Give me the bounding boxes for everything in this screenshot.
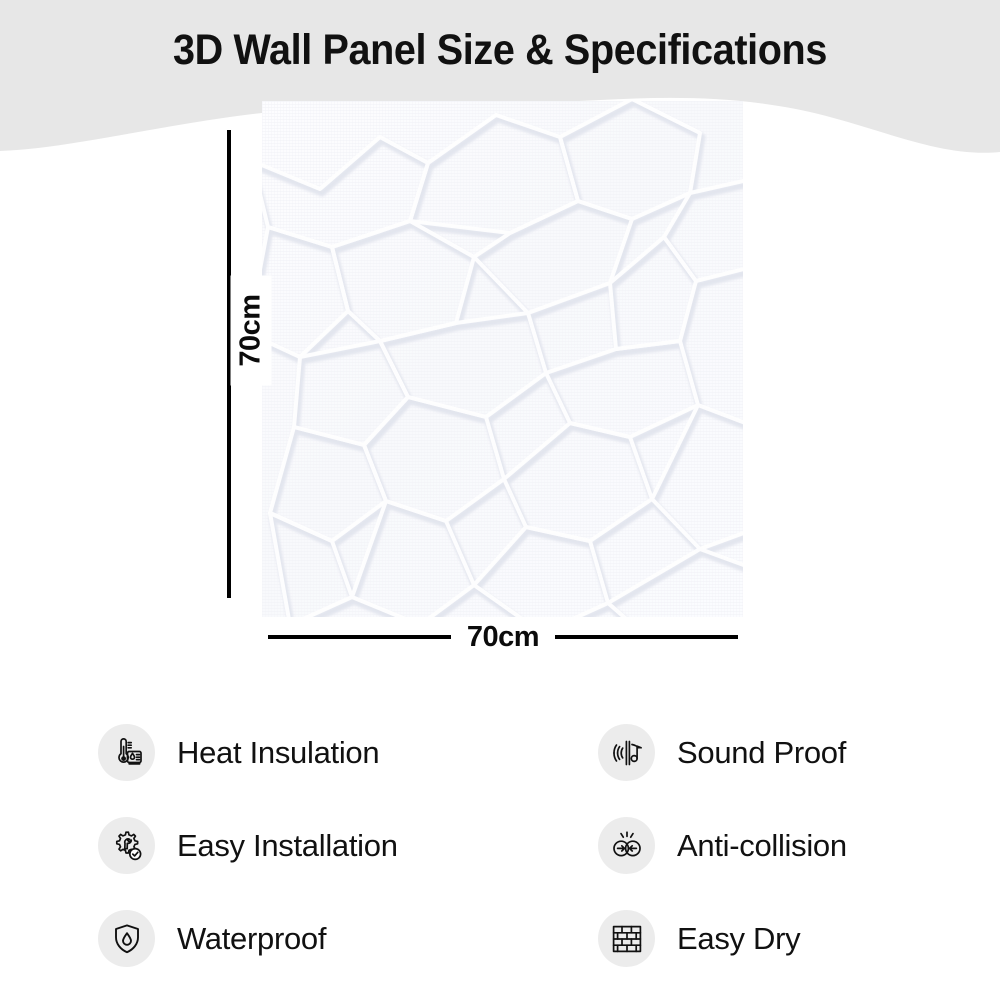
page-title: 3D Wall Panel Size & Specifications — [40, 26, 960, 75]
panel-texture-graphic — [262, 101, 743, 617]
feature-item-heat-insulation: Heat Insulation — [98, 724, 598, 781]
width-dimension-line-right — [555, 635, 738, 639]
feature-label-waterproof: Waterproof — [177, 921, 326, 957]
sound-wave-block-icon — [598, 724, 655, 781]
product-panel-image — [262, 101, 743, 617]
feature-label-anti-collision: Anti-collision — [677, 828, 847, 864]
width-dimension-line: 70cm — [268, 620, 738, 654]
width-dimension-label: 70cm — [451, 623, 555, 652]
collision-arrows-icon — [598, 817, 655, 874]
feature-label-easy-dry: Easy Dry — [677, 921, 800, 957]
feature-item-easy-dry: Easy Dry — [598, 910, 928, 967]
feature-label-easy-installation: Easy Installation — [177, 828, 398, 864]
feature-list: Heat Insulation Sound Proof — [98, 706, 928, 985]
feature-label-heat-insulation: Heat Insulation — [177, 735, 379, 771]
shield-droplet-icon — [98, 910, 155, 967]
feature-item-sound-proof: Sound Proof — [598, 724, 928, 781]
feature-item-waterproof: Waterproof — [98, 910, 598, 967]
width-dimension-line-left — [268, 635, 451, 639]
gear-wrench-check-icon — [98, 817, 155, 874]
brick-wall-icon — [598, 910, 655, 967]
feature-item-anti-collision: Anti-collision — [598, 817, 928, 874]
thermometer-heat-icon — [98, 724, 155, 781]
feature-item-easy-installation: Easy Installation — [98, 817, 598, 874]
feature-label-sound-proof: Sound Proof — [677, 735, 846, 771]
height-dimension-label: 70cm — [231, 276, 272, 386]
